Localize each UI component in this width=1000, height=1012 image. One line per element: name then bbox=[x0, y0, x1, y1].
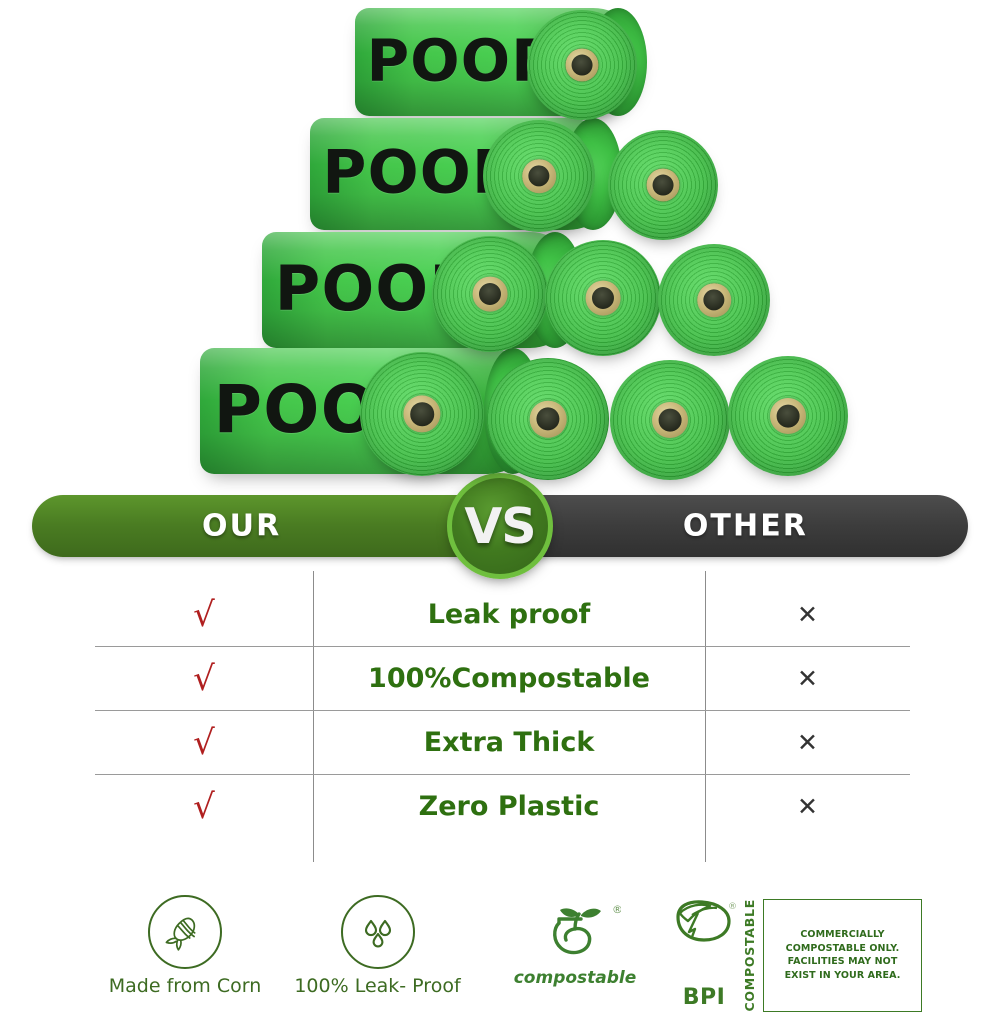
other-label: OTHER bbox=[683, 509, 808, 544]
table-row: √Zero Plastic✕ bbox=[95, 774, 910, 838]
check-icon: √ bbox=[193, 790, 215, 824]
check-icon: √ bbox=[193, 726, 215, 760]
our-bar: OUR bbox=[32, 495, 502, 557]
other-cell: ✕ bbox=[705, 730, 910, 756]
product-roll-end bbox=[658, 244, 770, 356]
other-cell: ✕ bbox=[705, 794, 910, 820]
our-label: OUR bbox=[202, 509, 281, 544]
ours-cell: √ bbox=[95, 598, 313, 632]
cross-icon: ✕ bbox=[797, 730, 818, 755]
ours-cell: √ bbox=[95, 662, 313, 696]
svg-text:®: ® bbox=[728, 902, 736, 912]
feature-label: Leak proof bbox=[428, 599, 591, 630]
roll-stack: POOPPOOPPOOPPOOP bbox=[0, 0, 1000, 500]
product-roll-end bbox=[610, 360, 730, 480]
product-roll-end bbox=[608, 130, 718, 240]
vs-badge: VS bbox=[447, 473, 553, 579]
product-roll-end bbox=[545, 240, 661, 356]
other-cell: ✕ bbox=[705, 666, 910, 692]
cross-icon: ✕ bbox=[797, 602, 818, 627]
bpi-disclaimer-line: EXIST IN YOUR AREA. bbox=[772, 969, 913, 983]
leak-proof-caption: 100% Leak- Proof bbox=[290, 975, 465, 997]
table-row: √Leak proof✕ bbox=[95, 583, 910, 646]
product-roll-end bbox=[487, 358, 609, 480]
cross-icon: ✕ bbox=[797, 666, 818, 691]
product-roll-end bbox=[432, 236, 548, 352]
other-bar: OTHER bbox=[498, 495, 968, 557]
comparison-table: √Leak proof✕√100%Compostable✕√Extra Thic… bbox=[95, 583, 910, 850]
badge-compostable-seedling: ® compostable bbox=[490, 899, 660, 988]
ours-cell: √ bbox=[95, 726, 313, 760]
svg-text:®: ® bbox=[612, 903, 621, 916]
seedling-icon: ® bbox=[529, 899, 621, 966]
feature-cell: 100%Compostable bbox=[313, 663, 705, 694]
corn-icon bbox=[148, 895, 222, 969]
water-drops-icon bbox=[341, 895, 415, 969]
feature-label: 100%Compostable bbox=[368, 663, 650, 694]
bpi-disclaimer-line: COMPOSTABLE ONLY. bbox=[772, 942, 913, 956]
bpi-disclaimer-line: FACILITIES MAY NOT bbox=[772, 955, 913, 969]
badge-made-from-corn: Made from Corn bbox=[100, 895, 270, 997]
bpi-wordmark: BPI bbox=[672, 985, 736, 1010]
bpi-vertical-text: COMPOSTABLE bbox=[742, 899, 757, 1012]
cross-icon: ✕ bbox=[797, 794, 818, 819]
product-roll-end bbox=[728, 356, 848, 476]
feature-cell: Extra Thick bbox=[313, 727, 705, 758]
bpi-logo-icon: ® BPI bbox=[672, 899, 736, 1012]
table-row: √Extra Thick✕ bbox=[95, 710, 910, 774]
certification-strip: Made from Corn 100% Leak- Proof bbox=[0, 893, 1000, 1000]
ours-cell: √ bbox=[95, 790, 313, 824]
badge-bpi-certification: ® BPI COMPOSTABLE COMMERCIALLYCOMPOSTABL… bbox=[672, 899, 922, 1012]
feature-label: Extra Thick bbox=[424, 727, 595, 758]
product-roll-end bbox=[360, 352, 484, 476]
bpi-disclaimer-line: COMMERCIALLY bbox=[772, 928, 913, 942]
bpi-disclaimer-box: COMMERCIALLYCOMPOSTABLE ONLY.FACILITIES … bbox=[763, 899, 922, 1012]
feature-label: Zero Plastic bbox=[419, 791, 600, 822]
badge-leak-proof: 100% Leak- Proof bbox=[290, 895, 465, 997]
feature-cell: Zero Plastic bbox=[313, 791, 705, 822]
corn-caption: Made from Corn bbox=[100, 975, 270, 997]
table-row: √100%Compostable✕ bbox=[95, 646, 910, 710]
vs-label: VS bbox=[464, 502, 535, 551]
product-roll-end bbox=[527, 10, 637, 120]
check-icon: √ bbox=[193, 662, 215, 696]
other-cell: ✕ bbox=[705, 602, 910, 628]
feature-cell: Leak proof bbox=[313, 599, 705, 630]
compostable-caption: compostable bbox=[490, 968, 660, 988]
comparison-rows: √Leak proof✕√100%Compostable✕√Extra Thic… bbox=[95, 583, 910, 838]
product-roll-end bbox=[483, 120, 595, 232]
product-hero-image: POOPPOOPPOOPPOOP bbox=[0, 0, 1000, 500]
check-icon: √ bbox=[193, 598, 215, 632]
versus-banner: OUR OTHER VS bbox=[0, 495, 1000, 557]
